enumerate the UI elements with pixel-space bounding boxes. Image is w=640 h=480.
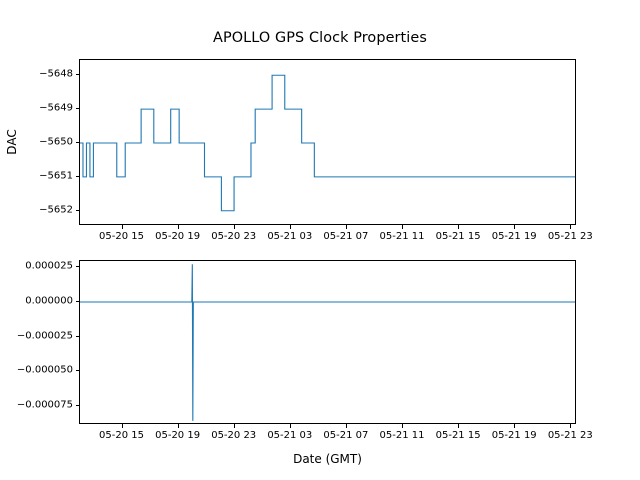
y-tick-mark — [76, 176, 80, 177]
x-tick-mark — [458, 225, 459, 229]
x-tick-label: 05-21 07 — [323, 231, 368, 242]
dac-data-line — [80, 60, 576, 225]
y-tick-mark — [76, 210, 80, 211]
x-tick-mark — [570, 424, 571, 428]
x-tick-mark — [402, 225, 403, 229]
x-tick-label: 05-21 11 — [380, 231, 425, 242]
x-tick-label: 05-20 19 — [155, 231, 200, 242]
x-tick-label: 05-20 23 — [211, 231, 256, 242]
y-tick-mark — [76, 301, 80, 302]
y-tick-label: 0.000025 — [25, 261, 73, 272]
series-residual — [80, 264, 576, 421]
x-tick-label: 05-21 03 — [267, 430, 312, 441]
x-tick-label: 05-21 11 — [380, 430, 425, 441]
y-tick-mark — [76, 405, 80, 406]
x-tick-mark — [178, 225, 179, 229]
x-tick-mark — [290, 225, 291, 229]
x-tick-mark — [458, 424, 459, 428]
y-tick-label: −0.000025 — [17, 330, 73, 341]
x-tick-mark — [234, 424, 235, 428]
x-tick-label: 05-21 19 — [492, 231, 537, 242]
y-tick-mark — [76, 74, 80, 75]
y-tick-mark — [76, 142, 80, 143]
x-tick-label: 05-21 07 — [323, 430, 368, 441]
x-tick-mark — [514, 225, 515, 229]
y-tick-mark — [76, 108, 80, 109]
y-tick-label: −0.000075 — [17, 400, 73, 411]
x-tick-mark — [402, 424, 403, 428]
x-tick-mark — [122, 225, 123, 229]
x-tick-mark — [346, 424, 347, 428]
y-tick-label: −5652 — [39, 204, 73, 215]
x-tick-mark — [570, 225, 571, 229]
x-tick-mark — [178, 424, 179, 428]
x-tick-mark — [234, 225, 235, 229]
x-tick-label: 05-20 15 — [99, 231, 144, 242]
dac-axis-title: DAC — [5, 129, 19, 154]
x-tick-label: 05-21 23 — [548, 231, 593, 242]
y-tick-label: −5648 — [39, 69, 73, 80]
y-tick-mark — [76, 370, 80, 371]
x-tick-label: 05-21 15 — [436, 430, 481, 441]
x-tick-mark — [514, 424, 515, 428]
y-tick-label: −0.000050 — [17, 365, 73, 376]
y-tick-mark — [76, 336, 80, 337]
residual-plot-axes — [79, 260, 576, 424]
figure-title: APOLLO GPS Clock Properties — [0, 30, 640, 46]
x-tick-label: 05-21 03 — [267, 231, 312, 242]
dac-plot-axes — [79, 59, 576, 225]
x-tick-label: 05-21 15 — [436, 231, 481, 242]
y-tick-label: −5649 — [39, 103, 73, 114]
date-axis-title: Date (GMT) — [79, 452, 576, 466]
y-tick-label: −5651 — [39, 170, 73, 181]
x-tick-mark — [290, 424, 291, 428]
x-tick-mark — [122, 424, 123, 428]
series-DAC — [80, 75, 576, 211]
matplotlib-figure: APOLLO GPS Clock Properties −5648−5649−5… — [0, 0, 640, 480]
y-tick-label: 0.000000 — [25, 296, 73, 307]
x-tick-label: 05-20 23 — [211, 430, 256, 441]
x-tick-label: 05-21 19 — [492, 430, 537, 441]
y-tick-label: −5650 — [39, 137, 73, 148]
residual-data-line — [80, 261, 576, 424]
y-tick-mark — [76, 266, 80, 267]
x-tick-label: 05-21 23 — [548, 430, 593, 441]
x-tick-mark — [346, 225, 347, 229]
x-tick-label: 05-20 19 — [155, 430, 200, 441]
x-tick-label: 05-20 15 — [99, 430, 144, 441]
